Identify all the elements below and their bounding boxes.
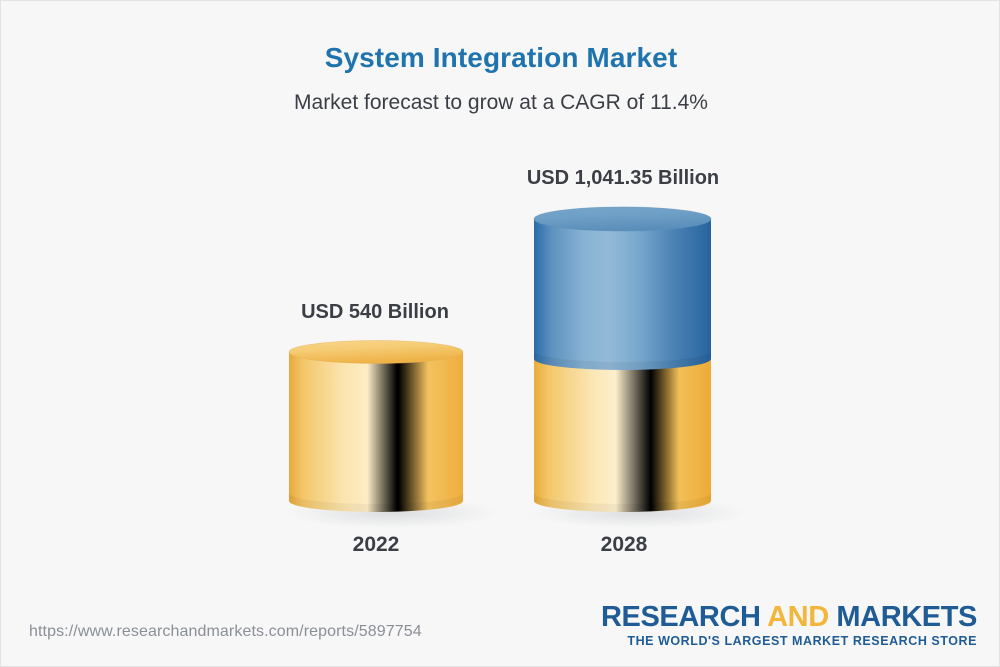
brand-name: RESEARCH AND MARKETS: [601, 601, 977, 633]
brand-logo: RESEARCH AND MARKETS THE WORLD'S LARGEST…: [601, 601, 977, 649]
category-label-2028: 2028: [504, 533, 744, 557]
source-url[interactable]: https://www.researchandmarkets.com/repor…: [29, 623, 422, 641]
value-label-2028: USD 1,041.35 Billion: [503, 167, 743, 190]
brand-tagline: THE WORLD'S LARGEST MARKET RESEARCH STOR…: [601, 633, 977, 649]
chart-plot-area: USD 540 Billion USD 1,041.35 Billion 202…: [1, 1, 1000, 601]
bar-2022: [283, 341, 503, 530]
brand-name-part2: MARKETS: [829, 601, 977, 633]
value-label-2022: USD 540 Billion: [255, 301, 495, 324]
brand-name-and: AND: [767, 601, 829, 633]
infographic-canvas: System Integration Market Market forecas…: [0, 0, 1000, 667]
brand-name-part1: RESEARCH: [601, 601, 767, 633]
cylinder-bars-svg: [1, 1, 1000, 601]
category-label-2022: 2022: [256, 533, 496, 557]
bar-2028: [527, 207, 751, 529]
